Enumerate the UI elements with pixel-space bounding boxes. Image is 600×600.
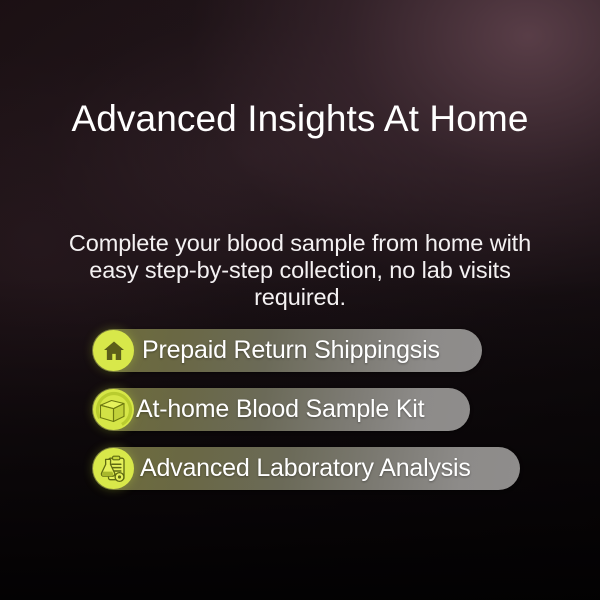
feature-label: Advanced Laboratory Analysis [140,447,471,490]
subheading-description: Complete your blood sample from home wit… [50,230,550,311]
feature-item-advanced-laboratory-analysis[interactable]: Advanced Laboratory Analysis [92,447,520,490]
page-title: Advanced Insights At Home [0,97,600,141]
home-icon [93,330,134,371]
feature-label: Prepaid Return Shippingsis [142,329,440,372]
lab-clipboard-icon [93,448,134,489]
poster-content: Advanced Insights At Home Complete your … [0,0,600,600]
promo-poster: Advanced Insights At Home Complete your … [0,0,600,600]
feature-item-at-home-blood-sample-kit[interactable]: At-home Blood Sample Kit [92,388,470,431]
feature-list: Prepaid Return Shippingsis [92,329,520,490]
feature-label: At-home Blood Sample Kit [136,388,424,431]
package-return-icon [93,389,134,430]
feature-item-prepaid-return-shipping[interactable]: Prepaid Return Shippingsis [92,329,482,372]
